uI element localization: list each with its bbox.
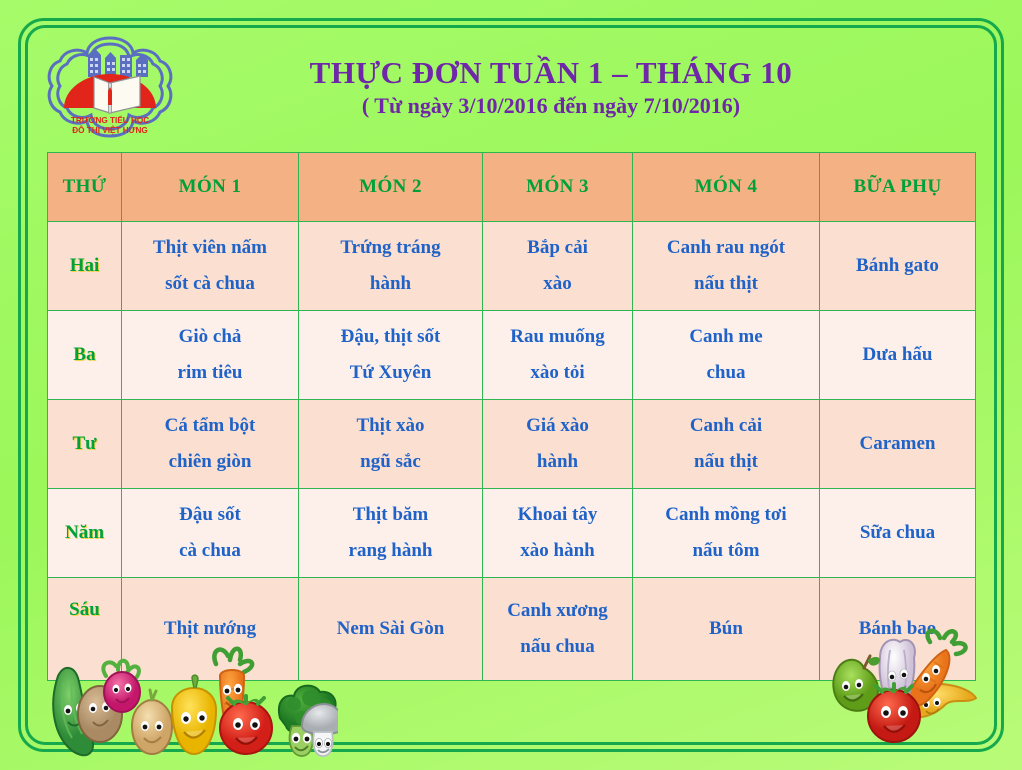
table-header-row: THỨ MÓN 1 MÓN 2 MÓN 3 MÓN 4 BỮA PHỤ [48,153,976,222]
logo-school-line2: ĐÔ THỊ VIỆT HƯNG [72,124,147,135]
dish-line: nấu chua [483,629,632,665]
dish-line: nấu thịt [633,444,819,480]
cell-dish-2: Trứng tráng hành [299,222,483,311]
dish-line: Thịt băm [299,497,482,533]
cell-dish-4: Canh cải nấu thịt [633,400,820,489]
dish-line: Thịt nướng [122,611,298,647]
dish-line: xào tỏi [483,355,632,391]
cucumber-icon [53,668,93,755]
cell-dish-4: Canh rau ngót nấu thịt [633,222,820,311]
cell-dish-3: Khoai tây xào hành [483,489,633,578]
dish-line: Sữa chua [820,515,975,551]
dish-line: sốt cà chua [122,266,298,302]
tomato-icon [868,684,920,742]
column-header-dish-3: MÓN 3 [483,153,633,222]
dish-line: nấu thịt [633,266,819,302]
dish-line: Giá xào [483,408,632,444]
dish-line: chiên giòn [122,444,298,480]
cell-day: Sáu [48,578,122,681]
cell-dish-3: Rau muống xào tỏi [483,311,633,400]
cell-snack: Dưa hấu [820,311,976,400]
dish-line: Bánh bao [820,611,975,647]
banana-icon [909,684,976,717]
cell-day: Tư [48,400,122,489]
dish-line: rang hành [299,533,482,569]
dish-line: Giò chả [122,319,298,355]
cell-dish-2: Đậu, thịt sốt Tứ Xuyên [299,311,483,400]
cell-dish-4: Bún [633,578,820,681]
cell-dish-2: Thịt xào ngũ sắc [299,400,483,489]
page-title: THỰC ĐƠN TUẦN 1 – THÁNG 10 [180,55,922,91]
dish-line: xào hành [483,533,632,569]
dish-line: Đậu sốt [122,497,298,533]
cell-day: Năm [48,489,122,578]
dish-line: Thịt xào [299,408,482,444]
logo-school-line1: TRƯỜNG TIỂU HỌC [71,114,149,125]
dish-line: Caramen [820,426,975,462]
potato-icon [78,686,122,742]
dish-line: Rau muống [483,319,632,355]
cell-snack: Bánh gato [820,222,976,311]
cell-dish-1: Thịt nướng [122,578,299,681]
dish-line: Bắp cải [483,230,632,266]
column-header-day: THỨ [48,153,122,222]
dish-line: Tứ Xuyên [299,355,482,391]
poster-header: TRƯỜNG TIỂU HỌC ĐÔ THỊ VIỆT HƯNG THỰC ĐƠ… [40,32,982,142]
cell-dish-3: Giá xào hành [483,400,633,489]
cell-dish-2: Nem Sài Gòn [299,578,483,681]
cell-day: Hai [48,222,122,311]
column-header-dish-1: MÓN 1 [122,153,299,222]
dish-line: Canh mồng tơi [633,497,819,533]
bell-pepper-icon [172,675,216,754]
dish-line: Bún [633,611,819,647]
cell-dish-3: Bắp cải xào [483,222,633,311]
cell-dish-2: Thịt băm rang hành [299,489,483,578]
dish-line: Đậu, thịt sốt [299,319,482,355]
dish-line: ngũ sắc [299,444,482,480]
menu-poster: TRƯỜNG TIỂU HỌC ĐÔ THỊ VIỆT HƯNG THỰC ĐƠ… [0,0,1022,770]
column-header-dish-2: MÓN 2 [299,153,483,222]
table-row: Tư Cá tẩm bột chiên giòn Thịt xào ngũ sắ… [48,400,976,489]
dish-line: xào [483,266,632,302]
weekly-menu-table: THỨ MÓN 1 MÓN 2 MÓN 3 MÓN 4 BỮA PHỤ Hai … [47,152,976,681]
cell-dish-1: Giò chả rim tiêu [122,311,299,400]
dish-line: Canh rau ngót [633,230,819,266]
table-row: Sáu Thịt nướng Nem Sài Gòn Canh xương nấ… [48,578,976,681]
page-subtitle: ( Từ ngày 3/10/2016 đến ngày 7/10/2016) [180,93,922,119]
dish-line: Dưa hấu [820,337,975,373]
cell-snack: Sữa chua [820,489,976,578]
dish-line: rim tiêu [122,355,298,391]
dish-line: Canh xương [483,593,632,629]
cell-dish-3: Canh xương nấu chua [483,578,633,681]
dish-line: cà chua [122,533,298,569]
cell-snack: Bánh bao [820,578,976,681]
dish-line: Canh cải [633,408,819,444]
cell-dish-1: Cá tẩm bột chiên giòn [122,400,299,489]
dish-line: hành [299,266,482,302]
cell-snack: Caramen [820,400,976,489]
dish-line: Thịt viên nấm [122,230,298,266]
dish-line: nấu tôm [633,533,819,569]
cell-day: Ba [48,311,122,400]
title-block: THỰC ĐƠN TUẦN 1 – THÁNG 10 ( Từ ngày 3/1… [180,55,982,119]
dish-line: Canh me [633,319,819,355]
cell-dish-1: Thịt viên nấm sốt cà chua [122,222,299,311]
column-header-dish-4: MÓN 4 [633,153,820,222]
dish-line: Khoai tây [483,497,632,533]
table-row: Hai Thịt viên nấm sốt cà chua Trứng trán… [48,222,976,311]
school-logo: TRƯỜNG TIỂU HỌC ĐÔ THỊ VIỆT HƯNG [40,33,180,141]
cell-dish-4: Canh me chua [633,311,820,400]
broccoli-icon [279,686,336,756]
dish-line: Nem Sài Gòn [299,611,482,647]
dish-line: Trứng tráng [299,230,482,266]
cell-dish-4: Canh mồng tơi nấu tôm [633,489,820,578]
dish-line: Cá tẩm bột [122,408,298,444]
table-row: Ba Giò chả rim tiêu Đậu, thịt sốt Tứ Xuy… [48,311,976,400]
onion-icon [132,690,172,754]
column-header-snack: BỮA PHỤ [820,153,976,222]
dish-line: Bánh gato [820,248,975,284]
mushroom-icon [302,704,338,756]
dish-line: hành [483,444,632,480]
dish-line: chua [633,355,819,391]
cell-dish-1: Đậu sốt cà chua [122,489,299,578]
table-row: Năm Đậu sốt cà chua Thịt băm rang hành K… [48,489,976,578]
tomato-icon [220,696,272,754]
